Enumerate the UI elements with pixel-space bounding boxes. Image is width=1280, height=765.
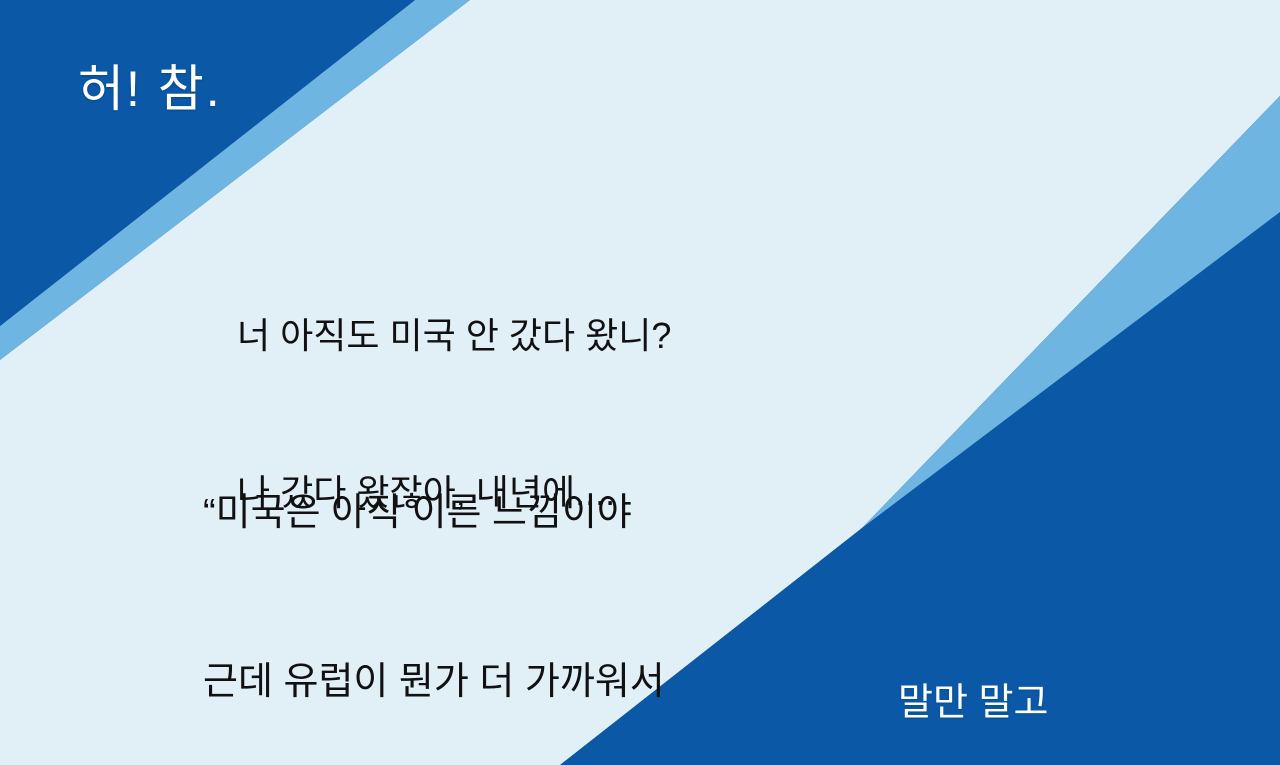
slide-canvas: 허! 참. 너 아직도 미국 안 갔다 왔니? 나 갔다 왔잖아, 내년에...… (0, 0, 1280, 765)
body-line: 너 아직도 미국 안 갔다 왔니? (237, 310, 671, 362)
quote-line: 근데 유럽이 뭔가 더 가까워서 (203, 654, 702, 710)
quote-line: “미국은 아직 이른 느낌이야 (203, 485, 702, 541)
page-title: 허! 참. (78, 60, 222, 119)
corner-callout-text: 말만 말고 이번엔 미국 (898, 566, 1126, 765)
body-paragraph-2-quote: “미국은 아직 이른 느낌이야 근데 유럽이 뭔가 더 가까워서 일단 동남아 … (203, 373, 702, 765)
corner-line: 말만 말고 (898, 676, 1126, 731)
